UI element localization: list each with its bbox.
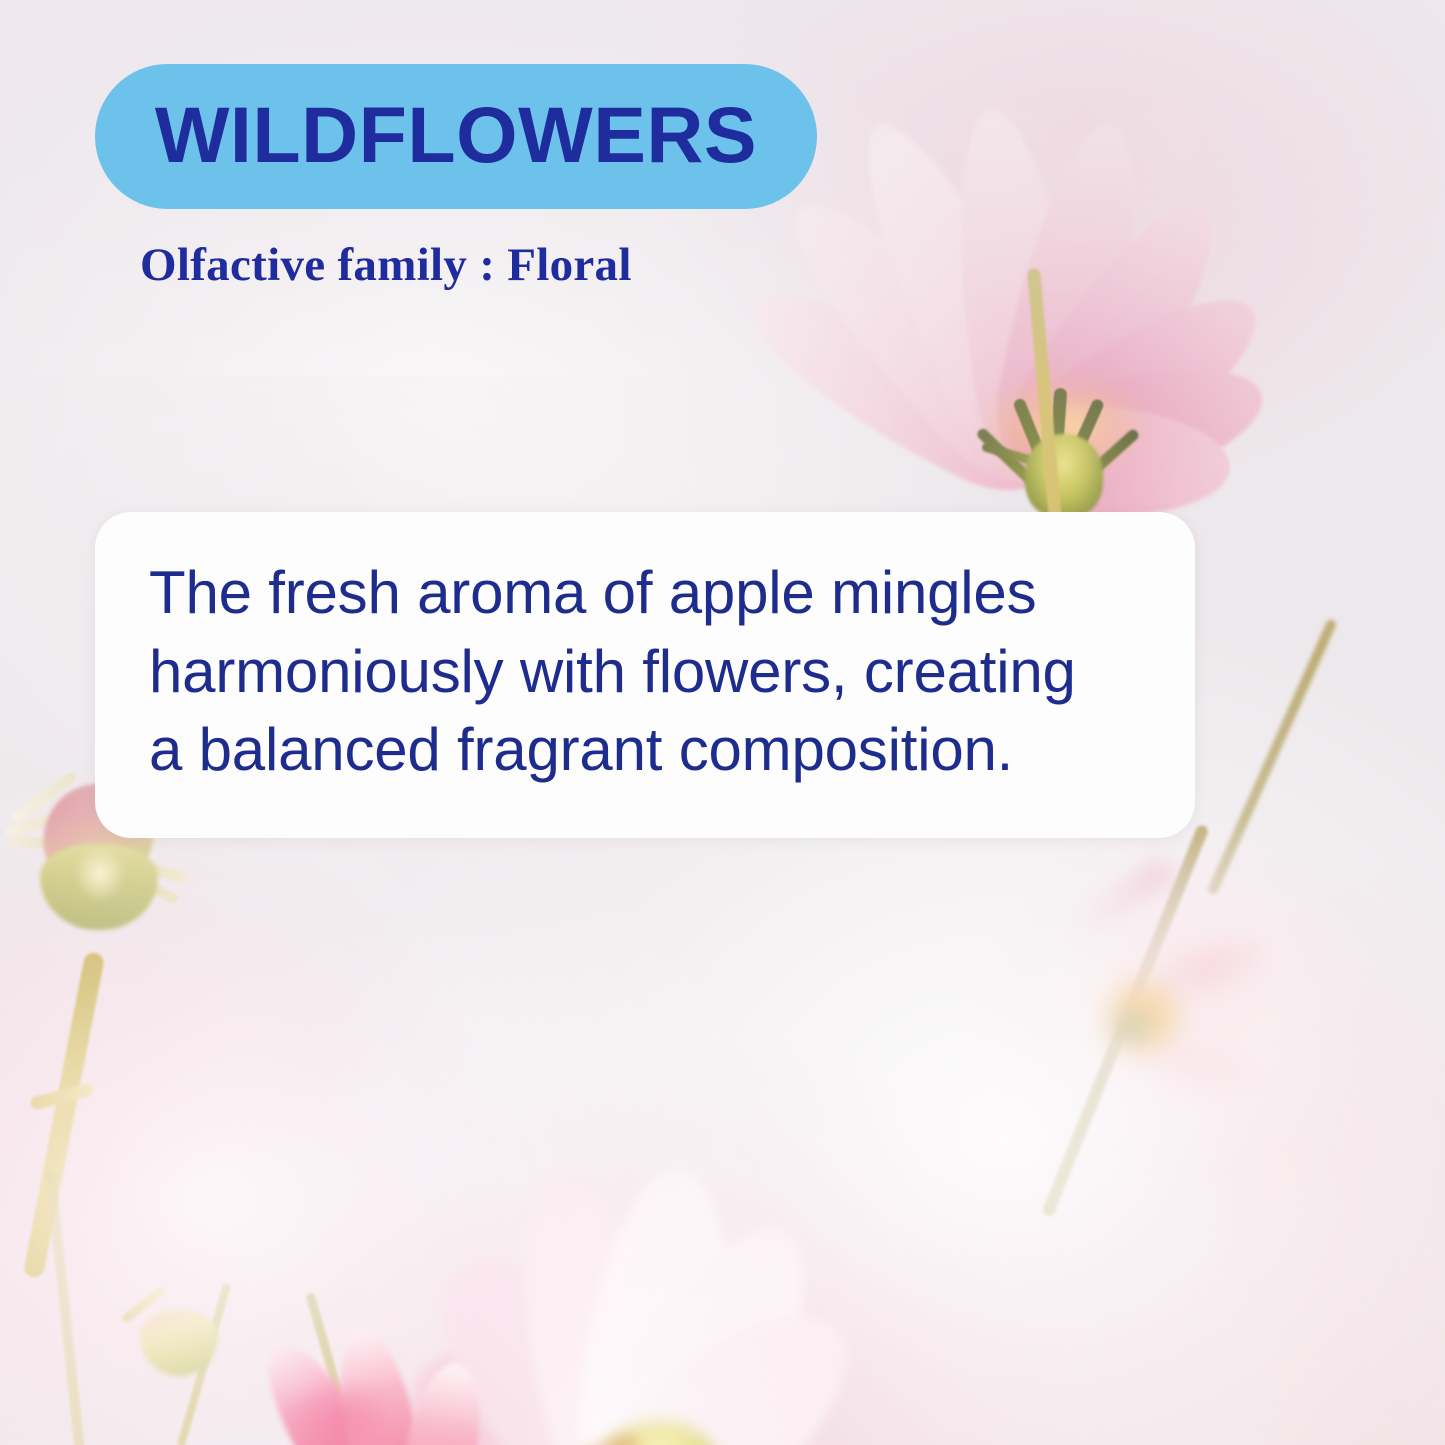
category-badge-label: WILDFLOWERS <box>155 95 757 174</box>
magenta-cluster-bottom-left <box>255 1295 585 1445</box>
category-badge[interactable]: WILDFLOWERS <box>95 64 817 209</box>
description-text: The fresh aroma of apple mingles harmoni… <box>149 554 1155 790</box>
description-card: The fresh aroma of apple mingles harmoni… <box>95 512 1195 838</box>
olfactive-family-subtitle: Olfactive family : Floral <box>140 238 632 292</box>
bloom-right <box>1040 830 1440 1250</box>
description-line: a balanced fragrant composition. <box>149 711 1155 790</box>
stem <box>45 1170 84 1445</box>
description-line: harmoniously with flowers, creating <box>149 633 1155 712</box>
description-line: The fresh aroma of apple mingles <box>149 554 1155 633</box>
poster-canvas: WILDFLOWERS Olfactive family : Floral Th… <box>0 0 1445 1445</box>
